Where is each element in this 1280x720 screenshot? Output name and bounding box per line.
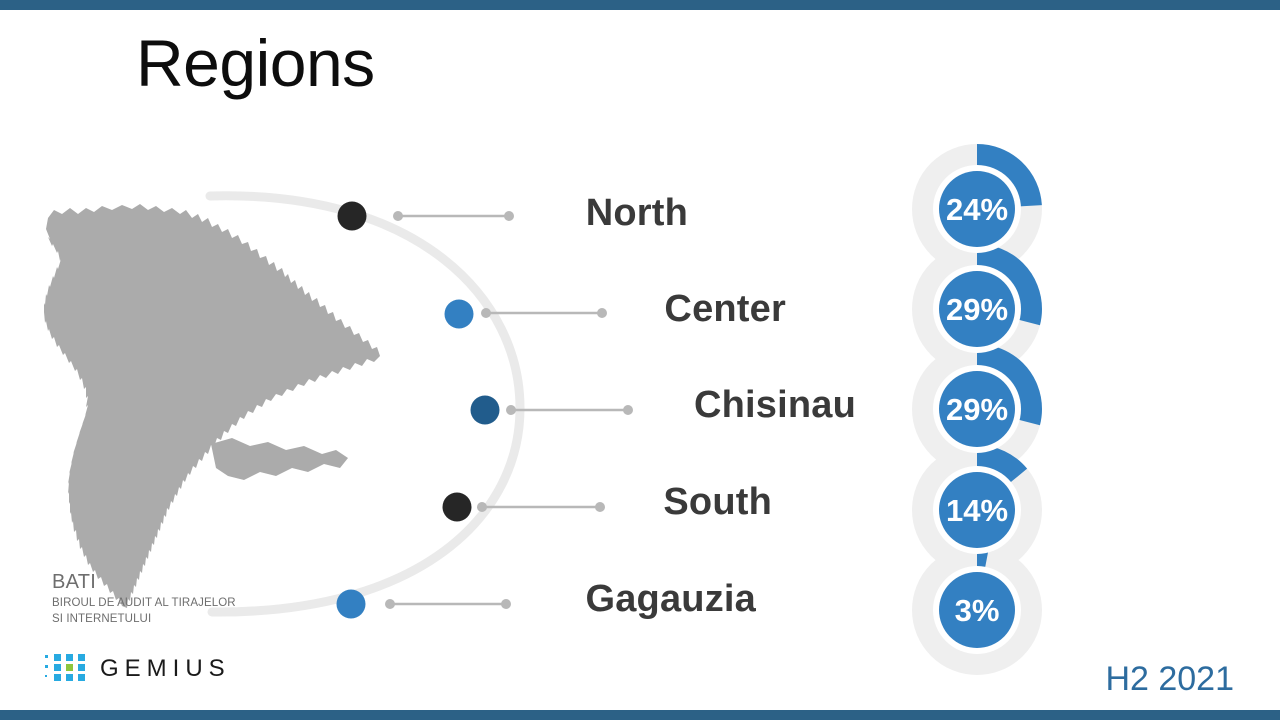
region-label-chisinau: Chisinau: [694, 384, 856, 427]
bati-logo-name: BATI: [52, 570, 312, 594]
period-label: H2 2021: [1105, 660, 1234, 699]
bati-logo-subtitle-line2: SI INTERNETULUI: [52, 612, 312, 626]
region-label-south: South: [663, 481, 772, 524]
gemius-wordmark: GEMIUS: [100, 655, 231, 683]
moldova-map: [36, 196, 386, 616]
donut-value-chisinau: 29%: [946, 392, 1008, 427]
region-dot-south: [443, 493, 472, 522]
page-title: Regions: [136, 26, 375, 100]
donut-value-south: 14%: [946, 493, 1008, 528]
region-label-center: Center: [664, 288, 786, 331]
region-label-gagauzia: Gagauzia: [585, 578, 756, 621]
donut-value-north: 24%: [946, 192, 1008, 227]
bati-logo: BATI BIROUL DE AUDIT AL TIRAJELOR SI INT…: [52, 570, 312, 626]
moldova-map-detail: [211, 438, 348, 480]
connector-chisinau: [506, 405, 633, 415]
region-dot-center: [445, 300, 474, 329]
gemius-logo: GEMIUS: [44, 653, 231, 685]
gemius-dot-grid-icon: [44, 653, 88, 685]
region-dot-chisinau: [471, 396, 500, 425]
region-label-north: North: [586, 192, 688, 235]
connector-gagauzia: [385, 599, 511, 609]
connector-north: [393, 211, 514, 221]
slide-canvas: Regions BATI BIROUL DE AUDIT AL TIRAJELO…: [0, 0, 1280, 720]
donut-value-center: 29%: [946, 292, 1008, 327]
connector-center: [481, 308, 607, 318]
bottom-accent-bar: [0, 710, 1280, 720]
top-accent-bar: [0, 0, 1280, 10]
moldova-map-shape: [44, 204, 380, 608]
connector-south: [477, 502, 605, 512]
donut-value-gagauzia: 3%: [955, 593, 1000, 628]
bati-logo-subtitle-line1: BIROUL DE AUDIT AL TIRAJELOR: [52, 596, 312, 610]
region-donut-column: 24% 29% 29% 14% 3%: [905, 128, 1055, 693]
